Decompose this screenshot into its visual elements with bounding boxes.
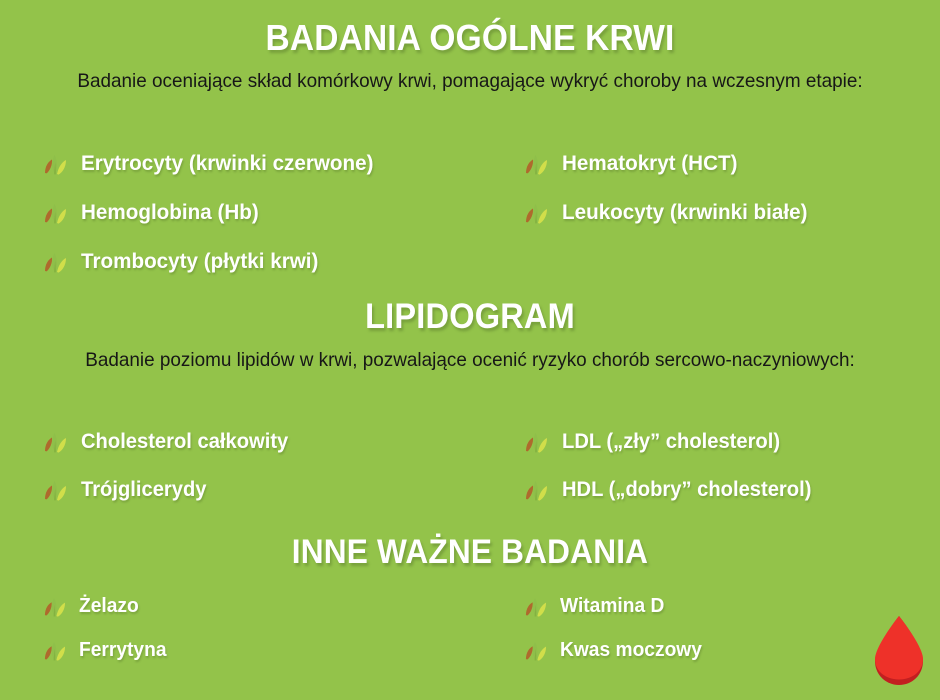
- leaf-cluster-icon: [523, 201, 549, 225]
- list-item-label: Ferrytyna: [79, 639, 167, 662]
- leaf-cluster-icon: [42, 250, 68, 274]
- list-item[interactable]: Ferrytyna: [42, 628, 505, 672]
- list-item[interactable]: HDL („dobry” cholesterol): [523, 466, 940, 514]
- heading-text: LIPIDOGRAM: [33, 297, 907, 336]
- item-column-left: Żelazo Ferrytyna: [0, 584, 505, 672]
- list-item-label: Leukocyty (krwinki białe): [562, 200, 807, 225]
- item-grid-blood-tests: Erytrocyty (krwinki czerwone) Hemoglobin…: [0, 139, 940, 286]
- list-item-label: Witamina D: [560, 595, 664, 618]
- section-heading-lipidogram: LIPIDOGRAM: [0, 297, 940, 336]
- leaf-cluster-icon: [523, 595, 548, 618]
- leaf-cluster-icon: [523, 478, 549, 502]
- leaf-cluster-icon: [42, 639, 67, 662]
- item-column-left: Erytrocyty (krwinki czerwone) Hemoglobin…: [0, 139, 505, 286]
- item-grid-lipidogram: Cholesterol całkowity Trójglicerydy: [0, 418, 940, 514]
- leaf-cluster-icon: [42, 152, 68, 176]
- section-heading-other-tests: INNE WAŻNE BADANIA: [0, 533, 940, 571]
- list-item[interactable]: LDL („zły” cholesterol): [523, 418, 940, 466]
- blood-drop-icon: [872, 614, 926, 688]
- leaf-cluster-icon: [42, 478, 68, 502]
- list-item[interactable]: Hemoglobina (Hb): [42, 188, 505, 237]
- leaf-cluster-icon: [523, 639, 548, 662]
- leaf-cluster-icon: [42, 430, 68, 454]
- item-column-right: Hematokryt (HCT) Leukocyty (krwinki biał…: [505, 139, 940, 286]
- list-item[interactable]: Leukocyty (krwinki białe): [523, 188, 940, 237]
- section-heading-blood-tests: BADANIA OGÓLNE KRWI: [0, 18, 940, 58]
- list-item[interactable]: Żelazo: [42, 584, 505, 628]
- list-item-label: Trombocyty (płytki krwi): [81, 249, 318, 274]
- heading-text: INNE WAŻNE BADANIA: [33, 533, 907, 571]
- infographic-poster: BADANIA OGÓLNE KRWI Badanie oceniające s…: [0, 0, 940, 700]
- leaf-cluster-icon: [42, 595, 67, 618]
- item-column-right: LDL („zły” cholesterol) HDL („dobry” cho…: [505, 418, 940, 514]
- description-text: Badanie oceniające skład komórkowy krwi,…: [72, 66, 867, 97]
- list-item-label: Kwas moczowy: [560, 639, 702, 662]
- list-item-label: Hemoglobina (Hb): [81, 200, 259, 225]
- leaf-cluster-icon: [42, 201, 68, 225]
- list-item[interactable]: Cholesterol całkowity: [42, 418, 505, 466]
- list-item[interactable]: Hematokryt (HCT): [523, 139, 940, 188]
- heading-text: BADANIA OGÓLNE KRWI: [33, 18, 907, 58]
- list-item-label: Trójglicerydy: [81, 478, 206, 502]
- list-item-label: Hematokryt (HCT): [562, 151, 737, 176]
- item-column-left: Cholesterol całkowity Trójglicerydy: [0, 418, 505, 514]
- list-item[interactable]: Erytrocyty (krwinki czerwone): [42, 139, 505, 188]
- item-grid-other-tests: Żelazo Ferrytyna Wi: [0, 584, 940, 672]
- list-item-label: Cholesterol całkowity: [81, 430, 288, 454]
- list-item-label: Żelazo: [79, 595, 139, 618]
- list-item-label: LDL („zły” cholesterol): [562, 430, 780, 454]
- leaf-cluster-icon: [523, 152, 549, 176]
- list-item-label: Erytrocyty (krwinki czerwone): [81, 151, 374, 176]
- list-item[interactable]: Trombocyty (płytki krwi): [42, 237, 505, 286]
- section-description-lipidogram: Badanie poziomu lipidów w krwi, pozwalaj…: [60, 345, 880, 376]
- description-text: Badanie poziomu lipidów w krwi, pozwalaj…: [72, 345, 867, 376]
- list-item-label: HDL („dobry” cholesterol): [562, 478, 811, 502]
- section-description-blood-tests: Badanie oceniające skład komórkowy krwi,…: [60, 66, 880, 97]
- leaf-cluster-icon: [523, 430, 549, 454]
- list-item[interactable]: Trójglicerydy: [42, 466, 505, 514]
